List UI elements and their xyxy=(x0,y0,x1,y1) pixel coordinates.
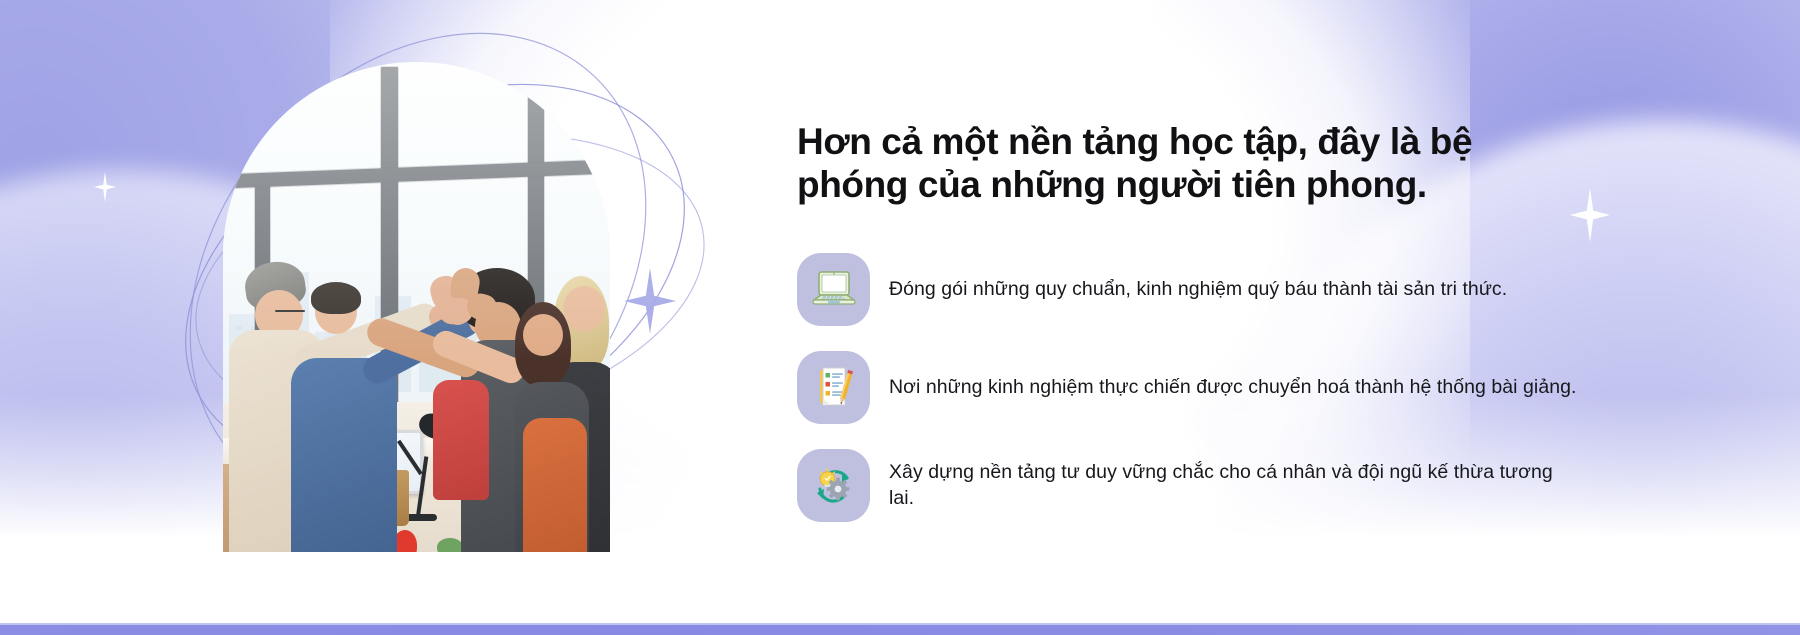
hero-photo-arch-mask xyxy=(223,62,610,552)
feature-item-knowledge-asset: Đóng gói những quy chuẩn, kinh nghiệm qu… xyxy=(797,253,1577,326)
office-team-photo xyxy=(223,62,610,552)
checklist-pencil-icon xyxy=(813,365,855,409)
feature-item-label: Đóng gói những quy chuẩn, kinh nghiệm qu… xyxy=(889,276,1507,302)
feature-icon-tile xyxy=(797,351,870,424)
desk-plant xyxy=(437,538,463,552)
feature-item-label: Xây dựng nền tảng tư duy vững chắc cho c… xyxy=(889,459,1577,512)
feature-item-lesson-system: Nơi những kinh nghiệm thực chiến được ch… xyxy=(797,351,1577,424)
bottom-accent-bar xyxy=(0,625,1800,635)
feature-list: Đóng gói những quy chuẩn, kinh nghiệm qu… xyxy=(797,253,1577,522)
laptop-icon xyxy=(811,269,857,309)
feature-icon-tile xyxy=(797,449,870,522)
page-title: Hơn cả một nền tảng học tập, đây là bệ p… xyxy=(797,120,1572,207)
hero-photo xyxy=(223,62,610,552)
feature-item-label: Nơi những kinh nghiệm thực chiến được ch… xyxy=(889,374,1576,400)
gear-glyph xyxy=(826,478,849,501)
feature-item-mindset-foundation: Xây dựng nền tảng tư duy vững chắc cho c… xyxy=(797,449,1577,522)
hero-content: Hơn cả một nền tảng học tập, đây là bệ p… xyxy=(797,120,1577,522)
feature-icon-tile xyxy=(797,253,870,326)
lightbulb-gear-refresh-icon xyxy=(811,463,857,507)
